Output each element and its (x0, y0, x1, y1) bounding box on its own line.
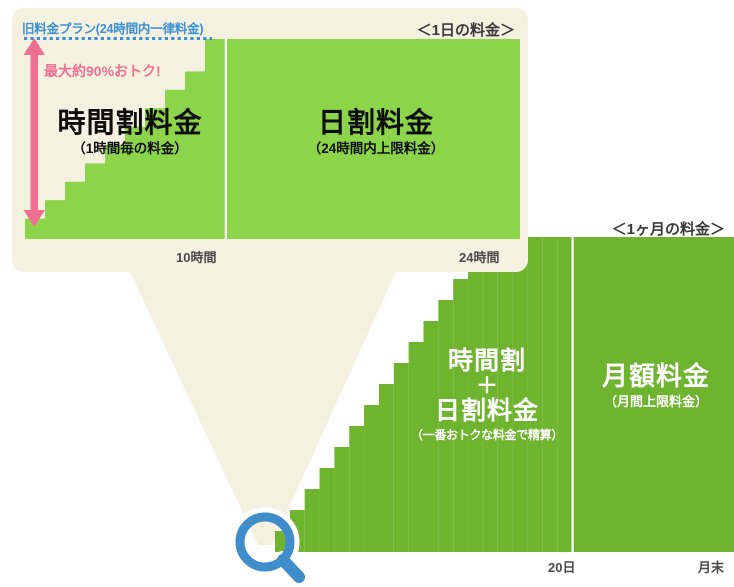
daily-charge-title: 日割料金 (232, 108, 520, 137)
hourly-charge-block: 時間割料金 （1時間毎の料金） (30, 108, 230, 157)
tick-label-24-hours: 24時間 (459, 247, 499, 266)
tick-label-20-days: 20日 (548, 557, 575, 576)
infographic-stage: 旧料金プラン(24時間内一律料金) 最大約90%おトク! ＜1日の料金＞ ＜1ヶ… (0, 0, 734, 587)
monthly-charge-subtitle: （月間上限料金） (578, 395, 734, 409)
hourly-charge-title: 時間割料金 (30, 108, 230, 137)
old-plan-label: 旧料金プラン(24時間内一律料金) (22, 18, 203, 37)
tick-label-10-hours: 10時間 (176, 247, 216, 266)
savings-label: 最大約90%おトク! (44, 61, 161, 81)
monthly-panel-heading: ＜1ヶ月の料金＞ (595, 218, 725, 239)
daily-charge-block: 日割料金 （24時間内上限料金） (232, 108, 520, 157)
pricing-diagram (0, 0, 734, 587)
combo-charge-line2: 日割料金 (398, 398, 576, 424)
combo-charge-block: 時間割 ＋ 日割料金 （一番おトクな料金で精算） (398, 348, 576, 442)
monthly-charge-block: 月額料金 （月間上限料金） (578, 363, 734, 409)
hourly-charge-subtitle: （1時間毎の料金） (30, 142, 230, 157)
combo-charge-line1: 時間割 (398, 348, 576, 374)
daily-charge-subtitle: （24時間内上限料金） (232, 142, 520, 157)
monthly-charge-title: 月額料金 (578, 363, 734, 390)
combo-charge-subtitle: （一番おトクな料金で精算） (398, 429, 576, 442)
combo-charge-plus: ＋ (398, 375, 576, 397)
tick-label-end-of-month: 月末 (698, 557, 724, 576)
daily-panel-heading: ＜1日の料金＞ (395, 19, 515, 40)
